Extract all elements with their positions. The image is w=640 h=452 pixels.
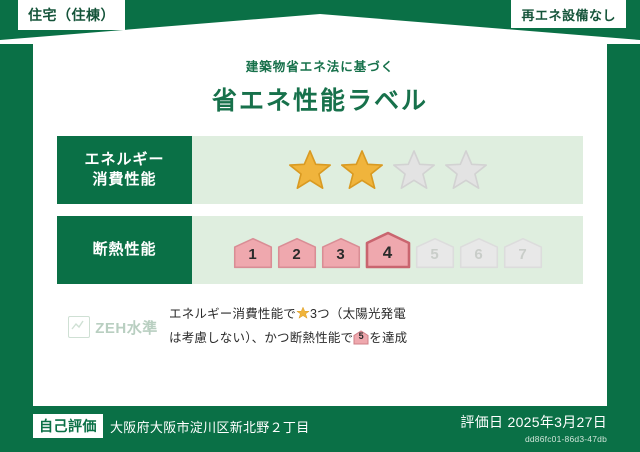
evaluation-date: 評価日 2025年3月27日: [460, 412, 607, 432]
insulation-performance-key: 断熱性能: [57, 216, 192, 284]
zeh-line2-post: を達成: [369, 331, 407, 345]
insulation-level-badge-1: 1: [233, 237, 273, 269]
zeh-line1-post: 3つ（太陽光発電: [310, 307, 406, 321]
label-card: 建築物省エネ法に基づく 省エネ性能ラベル エネルギー 消費性能 断熱性能 123…: [33, 38, 607, 406]
insulation-key-label: 断熱性能: [92, 240, 156, 260]
insulation-level-number: 5: [415, 246, 455, 263]
zeh-criteria-line1: エネルギー消費性能で3つ（太陽光発電: [169, 304, 583, 328]
insulation-level-badge-4: 4: [365, 231, 411, 269]
inline-house-badge: 5: [353, 330, 369, 345]
insulation-level-badge-2: 2: [277, 237, 317, 269]
insulation-level-number: 7: [503, 246, 543, 263]
energy-key-line1: エネルギー: [84, 150, 164, 170]
zeh-criteria-text: エネルギー消費性能で3つ（太陽光発電 は考慮しない）、かつ断熱性能で5を達成: [169, 304, 583, 350]
tab-building-type-label: 住宅（住棟）: [28, 5, 115, 25]
title-subtitle: 建築物省エネ法に基づく: [33, 56, 607, 75]
energy-label-root: 住宅（住棟） 再エネ設備なし 建築物省エネ法に基づく 省エネ性能ラベル エネルギ…: [0, 0, 640, 452]
insulation-level-number: 6: [459, 246, 499, 263]
insulation-level-number: 3: [321, 246, 361, 263]
zeh-line2-pre: は考慮しない）、かつ断熱性能で: [169, 331, 353, 345]
insulation-performance-row: 断熱性能 1234567: [57, 216, 583, 284]
insulation-level-number: 4: [365, 243, 411, 263]
document-id: dd86fc01-86d3-47db: [460, 434, 607, 444]
zeh-label: ZEH水準: [95, 317, 158, 338]
star-filled-icon: [339, 148, 385, 192]
star-empty-icon: [391, 148, 437, 192]
property-address: 大阪府大阪市淀川区新北野２丁目: [110, 417, 310, 436]
inline-star-icon: [296, 306, 310, 328]
insulation-level-badge-3: 3: [321, 237, 361, 269]
tab-building-type[interactable]: 住宅（住棟）: [18, 0, 125, 30]
insulation-level-scale: 1234567: [192, 216, 583, 284]
page-title: 省エネ性能ラベル: [33, 81, 607, 117]
zeh-note-block: ZEH水準 エネルギー消費性能で3つ（太陽光発電 は考慮しない）、かつ断熱性能で…: [57, 296, 583, 358]
insulation-level-badge-6: 6: [459, 237, 499, 269]
title-block: 建築物省エネ法に基づく 省エネ性能ラベル: [33, 38, 607, 117]
insulation-level-number: 2: [277, 246, 317, 263]
footer-bar: 自己評価 大阪府大阪市淀川区新北野２丁目 評価日 2025年3月27日 dd86…: [0, 406, 640, 452]
tab-renewable-equipment-label: 再エネ設備なし: [521, 5, 616, 24]
energy-star-rating: [192, 136, 583, 204]
energy-key-line2: 消費性能: [92, 170, 156, 190]
zeh-criteria-line2: は考慮しない）、かつ断熱性能で5を達成: [169, 328, 583, 350]
insulation-level-badge-7: 7: [503, 237, 543, 269]
insulation-level-number: 1: [233, 246, 273, 263]
star-filled-icon: [287, 148, 333, 192]
energy-performance-key: エネルギー 消費性能: [57, 136, 192, 204]
footer-right-group: 評価日 2025年3月27日 dd86fc01-86d3-47db: [460, 412, 607, 444]
energy-performance-row: エネルギー 消費性能: [57, 136, 583, 204]
zeh-line1-pre: エネルギー消費性能で: [169, 307, 296, 321]
zeh-chart-icon: [68, 316, 90, 338]
tab-renewable-equipment[interactable]: 再エネ設備なし: [511, 0, 626, 28]
self-evaluation-badge: 自己評価: [33, 414, 103, 438]
zeh-standard-marker: ZEH水準: [57, 316, 169, 338]
insulation-level-badge-5: 5: [415, 237, 455, 269]
star-empty-icon: [443, 148, 489, 192]
inline-house-number: 5: [353, 329, 369, 345]
footer-left-group: 自己評価 大阪府大阪市淀川区新北野２丁目: [33, 414, 310, 438]
